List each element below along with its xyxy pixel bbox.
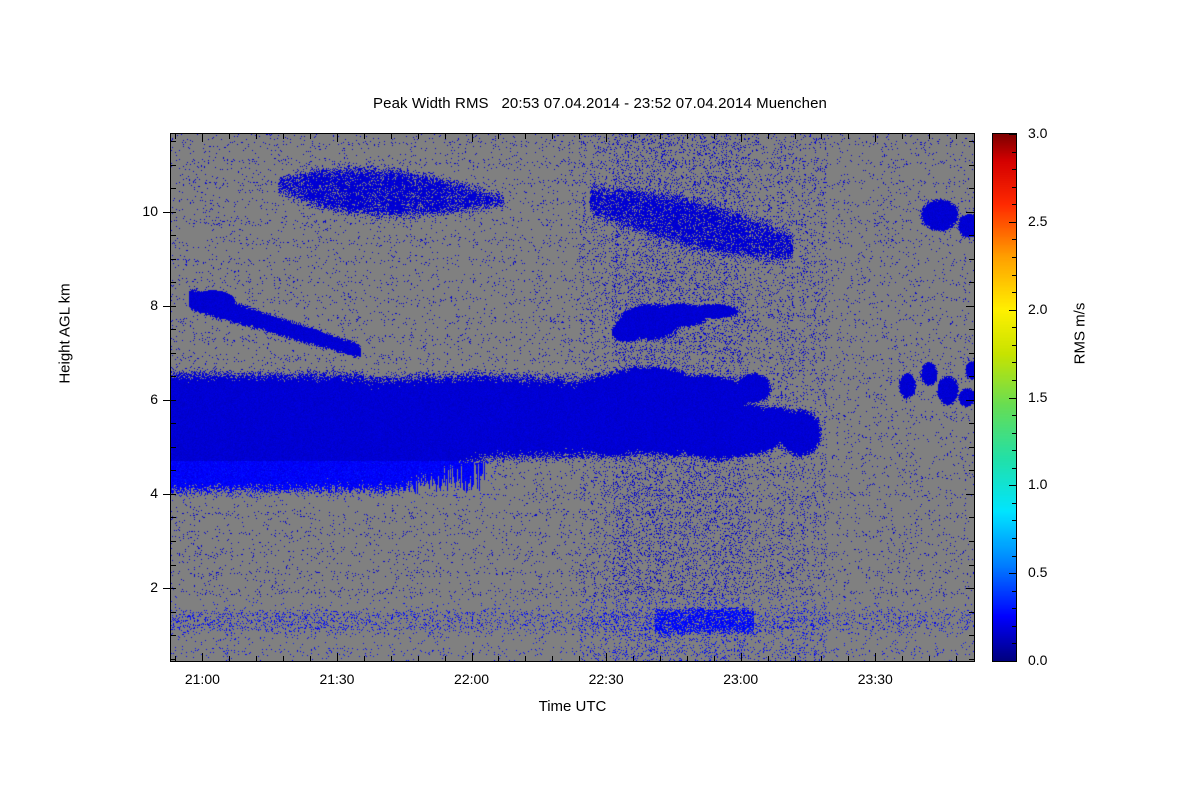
y-tick-label: 4 [118,485,158,501]
colorbar-minor-tick [1012,257,1016,258]
x-major-tick [606,653,607,661]
x-minor-tick [283,656,284,661]
x-minor-tick [821,656,822,661]
y-minor-tick [171,259,176,260]
x-tick-label: 21:30 [297,671,377,687]
x-major-tick [472,653,473,661]
y-minor-tick-right [969,565,974,566]
y-minor-tick-right [969,235,974,236]
colorbar-minor-tick [1012,327,1016,328]
y-minor-tick [171,494,176,495]
colorbar-minor-tick [1012,503,1016,504]
x-minor-tick-top [795,134,796,139]
y-minor-tick [171,612,176,613]
y-minor-tick [171,541,176,542]
x-major-tick [741,653,742,661]
x-minor-tick [848,656,849,661]
colorbar-tick-label: 2.5 [1028,213,1047,229]
y-minor-tick [171,141,176,142]
colorbar-minor-tick [1012,450,1016,451]
y-major-tick [163,306,171,307]
plot-area[interactable] [170,133,975,662]
colorbar-minor-tick [1012,591,1016,592]
x-minor-tick [445,656,446,661]
y-minor-tick [171,235,176,236]
colorbar-tick-label: 3.0 [1028,125,1047,141]
x-minor-tick [552,656,553,661]
y-minor-tick-right [969,517,974,518]
x-major-tick [337,653,338,661]
x-major-tick [202,653,203,661]
x-minor-tick [391,656,392,661]
x-tick-label: 21:00 [162,671,242,687]
y-tick-label: 8 [118,297,158,313]
x-minor-tick [633,656,634,661]
y-minor-tick [171,282,176,283]
colorbar-minor-tick [1012,538,1016,539]
colorbar-tick-label: 1.0 [1028,476,1047,492]
heatmap-canvas [171,134,974,661]
x-minor-tick-top [310,134,311,139]
x-tick-label: 23:00 [701,671,781,687]
y-minor-tick [171,447,176,448]
y-minor-tick [171,376,176,377]
y-major-tick-right [966,400,974,401]
x-minor-tick-top [256,134,257,139]
y-minor-tick-right [969,376,974,377]
x-major-tick-top [337,134,338,142]
x-major-tick-top [741,134,742,142]
x-minor-tick [660,656,661,661]
colorbar-minor-tick [1012,292,1016,293]
colorbar-minor-tick [1012,362,1016,363]
x-minor-tick-top [660,134,661,139]
colorbar-minor-tick [1012,152,1016,153]
x-minor-tick-top [445,134,446,139]
colorbar-minor-tick [1012,520,1016,521]
x-minor-tick [687,656,688,661]
y-minor-tick-right [969,329,974,330]
y-minor-tick-right [969,423,974,424]
x-minor-tick [768,656,769,661]
colorbar-major-tick [1009,485,1016,486]
y-minor-tick [171,329,176,330]
colorbar-minor-tick [1012,380,1016,381]
y-major-tick [163,212,171,213]
x-minor-tick-top [956,134,957,139]
x-minor-tick [795,656,796,661]
x-minor-tick [310,656,311,661]
chart-root: Peak Width RMS 20:53 07.04.2014 - 23:52 … [0,0,1200,800]
y-minor-tick-right [969,353,974,354]
colorbar-major-tick [1009,573,1016,574]
y-major-tick [163,400,171,401]
colorbar-minor-tick [1012,433,1016,434]
x-tick-label: 22:30 [566,671,646,687]
y-minor-tick [171,165,176,166]
x-minor-tick-top [848,134,849,139]
colorbar-minor-tick [1012,643,1016,644]
y-minor-tick [171,517,176,518]
colorbar-minor-tick [1012,345,1016,346]
colorbar-minor-tick [1012,239,1016,240]
y-minor-tick [171,565,176,566]
y-minor-tick [171,659,176,660]
y-minor-tick-right [969,659,974,660]
x-minor-tick-top [821,134,822,139]
y-minor-tick [171,306,176,307]
y-tick-label: 6 [118,391,158,407]
y-minor-tick [171,400,176,401]
y-minor-tick-right [969,141,974,142]
y-minor-tick-right [969,282,974,283]
y-minor-tick-right [969,612,974,613]
colorbar-tick-label: 1.5 [1028,389,1047,405]
y-minor-tick-right [969,635,974,636]
y-minor-tick-right [969,188,974,189]
x-minor-tick-top [579,134,580,139]
x-tick-label: 23:30 [835,671,915,687]
x-minor-tick-top [687,134,688,139]
y-minor-tick [171,635,176,636]
colorbar-minor-tick [1012,468,1016,469]
colorbar-major-tick [1009,310,1016,311]
y-minor-tick [171,423,176,424]
x-minor-tick-top [714,134,715,139]
colorbar-minor-tick [1012,626,1016,627]
colorbar-major-tick [1009,134,1016,135]
x-major-tick-top [875,134,876,142]
colorbar-minor-tick [1012,415,1016,416]
y-minor-tick-right [969,165,974,166]
x-major-tick [875,653,876,661]
x-minor-tick [714,656,715,661]
colorbar-tick-label: 2.0 [1028,301,1047,317]
colorbar-minor-tick [1012,187,1016,188]
x-minor-tick [929,656,930,661]
x-minor-tick-top [525,134,526,139]
x-minor-tick [498,656,499,661]
x-minor-tick-top [633,134,634,139]
x-major-tick-top [606,134,607,142]
x-minor-tick [579,656,580,661]
y-major-tick-right [966,494,974,495]
x-minor-tick [418,656,419,661]
x-tick-label: 22:00 [432,671,512,687]
y-minor-tick [171,353,176,354]
x-major-tick-top [472,134,473,142]
x-minor-tick-top [175,134,176,139]
y-minor-tick [171,188,176,189]
colorbar-minor-tick [1012,556,1016,557]
x-minor-tick [256,656,257,661]
x-major-tick-top [202,134,203,142]
x-minor-tick-top [902,134,903,139]
y-major-tick-right [966,588,974,589]
y-minor-tick [171,588,176,589]
y-minor-tick-right [969,470,974,471]
x-minor-tick-top [552,134,553,139]
colorbar-minor-tick [1012,169,1016,170]
x-minor-tick-top [364,134,365,139]
x-minor-tick-top [391,134,392,139]
y-major-tick [163,588,171,589]
y-major-tick-right [966,306,974,307]
y-minor-tick-right [969,259,974,260]
y-minor-tick [171,212,176,213]
y-tick-label: 2 [118,579,158,595]
colorbar-tick-label: 0.0 [1028,652,1047,668]
x-minor-tick-top [929,134,930,139]
x-minor-tick-top [768,134,769,139]
x-minor-tick-top [283,134,284,139]
x-minor-tick [229,656,230,661]
x-minor-tick-top [229,134,230,139]
colorbar-major-tick [1009,398,1016,399]
x-minor-tick-top [498,134,499,139]
chart-title: Peak Width RMS 20:53 07.04.2014 - 23:52 … [0,95,1200,112]
x-minor-tick [902,656,903,661]
x-minor-tick [525,656,526,661]
colorbar-minor-tick [1012,204,1016,205]
y-minor-tick-right [969,541,974,542]
y-minor-tick [171,470,176,471]
colorbar-major-tick [1009,222,1016,223]
x-minor-tick-top [418,134,419,139]
colorbar-tick-label: 0.5 [1028,564,1047,580]
y-axis-title: Height AGL km [57,224,74,444]
y-major-tick-right [966,212,974,213]
y-minor-tick-right [969,447,974,448]
colorbar-title: RMS m/s [1072,224,1089,444]
x-minor-tick [956,656,957,661]
colorbar-minor-tick [1012,608,1016,609]
colorbar-major-tick [1009,661,1016,662]
y-major-tick [163,494,171,495]
y-tick-label: 10 [118,203,158,219]
x-axis-title: Time UTC [170,698,975,715]
colorbar-minor-tick [1012,275,1016,276]
x-minor-tick [364,656,365,661]
